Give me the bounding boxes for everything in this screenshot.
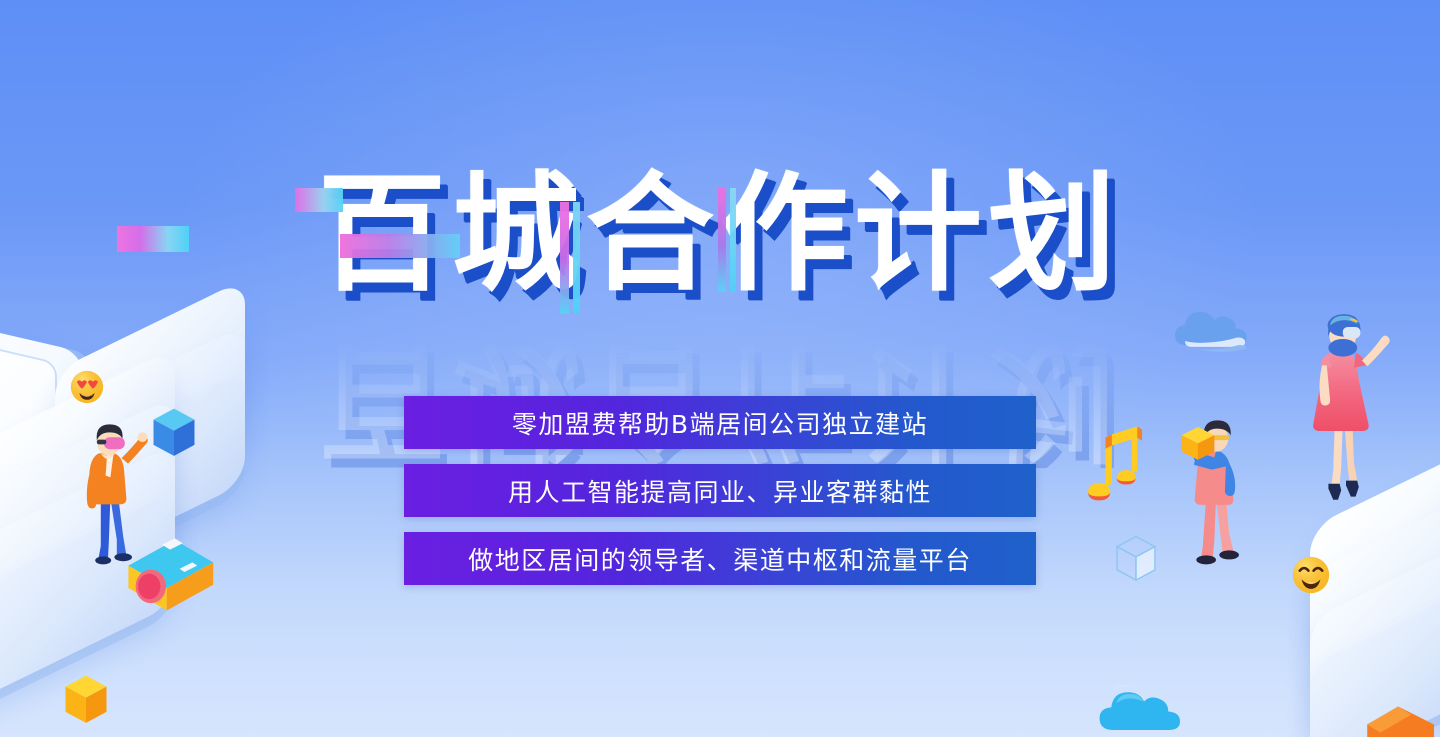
person-pink-overalls-icon bbox=[1175, 408, 1257, 578]
tagline-text: 做地区居间的领导者、渠道中枢和流量平台 bbox=[468, 541, 972, 577]
left-illustration-group bbox=[0, 0, 330, 737]
glitch-slice-icon bbox=[560, 202, 569, 314]
wireframe-cube-icon bbox=[1114, 535, 1158, 583]
right-illustration-group bbox=[1080, 0, 1440, 737]
tagline-bar-3: 做地区居间的领导者、渠道中枢和流量平台 bbox=[404, 532, 1036, 585]
promo-banner: 百城合作计划 百城合作计划 零加盟费帮助B端居间公司独立建站 用人工智能提高同业… bbox=[0, 0, 1440, 737]
glitch-slice-icon bbox=[573, 202, 580, 314]
glitch-slice-icon bbox=[295, 188, 343, 212]
tagline-bar-1: 零加盟费帮助B端居间公司独立建站 bbox=[404, 396, 1036, 449]
glitch-slice-icon bbox=[340, 234, 460, 258]
yellow-cube-icon bbox=[62, 674, 110, 726]
tagline-list: 零加盟费帮助B端居间公司独立建站 用人工智能提高同业、异业客群黏性 做地区居间的… bbox=[404, 396, 1036, 585]
camera-icon bbox=[122, 524, 218, 616]
blue-cloud-icon bbox=[1170, 300, 1270, 362]
woman-pink-dress-vr-icon bbox=[1298, 300, 1386, 510]
glitch-slice-icon bbox=[117, 226, 189, 252]
orange-shape-icon bbox=[1362, 700, 1436, 737]
tagline-text: 零加盟费帮助B端居间公司独立建站 bbox=[512, 405, 928, 441]
main-title-block: 百城合作计划 bbox=[0, 166, 1440, 304]
heart-eyes-emoji-icon bbox=[70, 370, 104, 404]
glitch-slice-icon bbox=[730, 188, 736, 292]
glitch-slice-icon bbox=[718, 188, 726, 292]
cyan-cloud-icon bbox=[1094, 678, 1204, 737]
tagline-bar-2: 用人工智能提高同业、异业客群黏性 bbox=[404, 464, 1036, 517]
music-note-icon bbox=[1088, 423, 1150, 511]
smiling-emoji-icon bbox=[1292, 556, 1330, 594]
blue-cube-icon bbox=[150, 407, 198, 459]
tagline-text: 用人工智能提高同业、异业客群黏性 bbox=[508, 473, 932, 509]
